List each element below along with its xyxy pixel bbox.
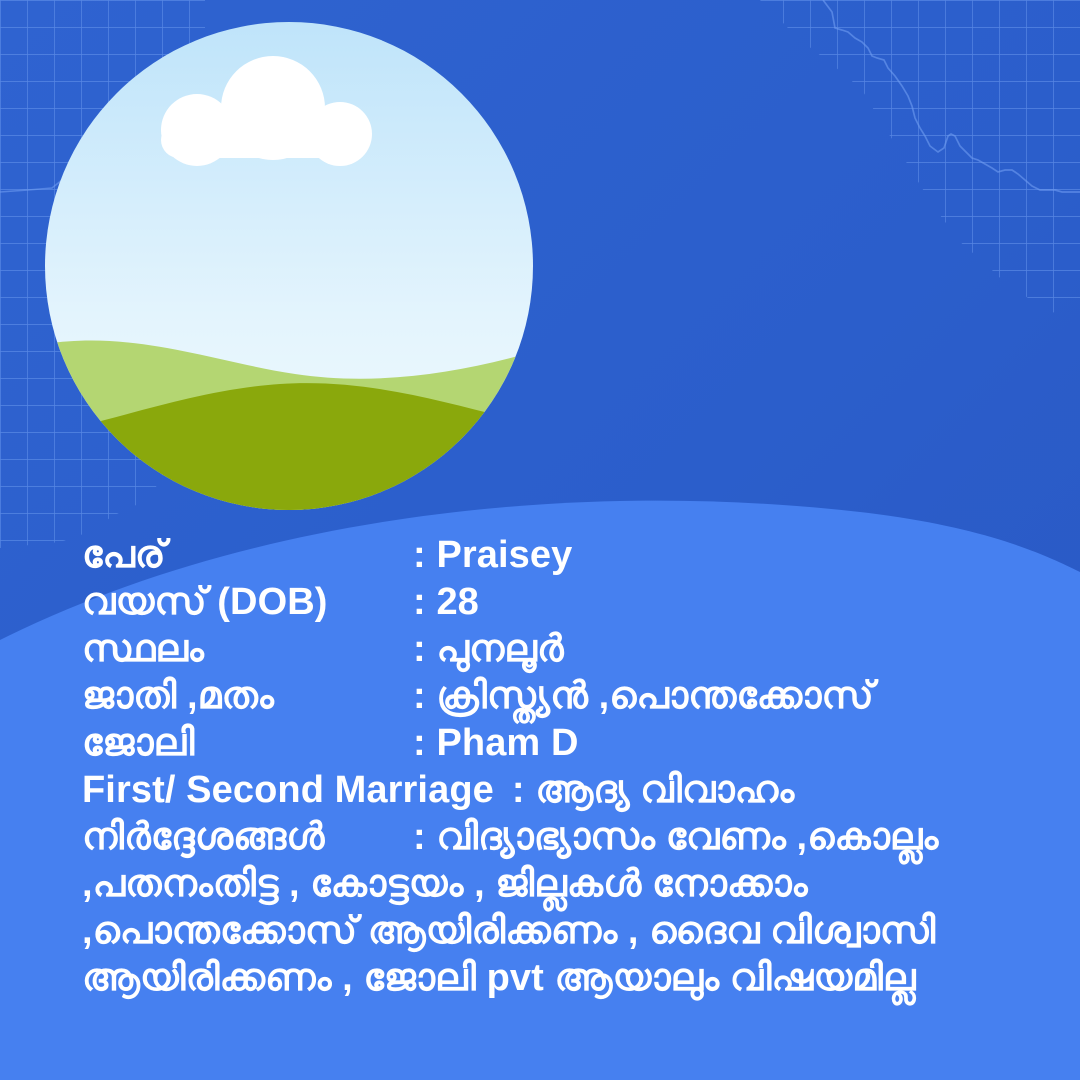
remarks-continuation-line-3: ആയിരിക്കണം , ജോലി pvt ആയാലും വിഷയമില്ല (82, 959, 1062, 997)
value-job: : Pham D (413, 724, 579, 762)
label-place: സ്ഥലം (82, 630, 413, 668)
value-name: : Praisey (413, 536, 572, 574)
detail-row-job: ജോലി : Pham D (82, 724, 1062, 762)
remarks-continuation-line-2: ,പൊന്തക്കോസ് ആയിരിക്കണം , ദൈവ വിശ്വാസി (82, 912, 1062, 950)
profile-details: പേര് : Praisey വയസ് (DOB) : 28 സ്ഥലം : പ… (0, 536, 1080, 1006)
value-marriage: : ആദ്യ വിവാഹം (512, 771, 794, 809)
label-remarks: നിർദ്ദേശങ്ങൾ (82, 818, 413, 856)
value-caste-religion: : ക്രിസ്ത്യൻ ,പൊന്തക്കോസ് (413, 677, 874, 715)
detail-row-name: പേര് : Praisey (82, 536, 1062, 574)
detail-row-remarks: നിർദ്ദേശങ്ങൾ : വിദ്യാഭ്യാസം വേണം ,കൊല്ലം (82, 818, 1062, 856)
value-place: : പുനലൂർ (413, 630, 564, 668)
label-age: വയസ് (DOB) (82, 583, 413, 621)
detail-row-caste-religion: ജാതി ,മതം : ക്രിസ്ത്യൻ ,പൊന്തക്കോസ് (82, 677, 1062, 715)
detail-row-marriage: First/ Second Marriage : ആദ്യ വിവാഹം (82, 771, 1062, 809)
label-name: പേര് (82, 536, 413, 574)
avatar[interactable] (45, 22, 533, 510)
label-caste-religion: ജാതി ,മതം (82, 677, 413, 715)
label-job: ജോലി (82, 724, 413, 762)
detail-row-age: വയസ് (DOB) : 28 (82, 583, 1062, 621)
value-remarks: : വിദ്യാഭ്യാസം വേണം ,കൊല്ലം (413, 818, 938, 856)
value-age: : 28 (413, 583, 479, 621)
detail-row-place: സ്ഥലം : പുനലൂർ (82, 630, 1062, 668)
profile-card: പേര് : Praisey വയസ് (DOB) : 28 സ്ഥലം : പ… (0, 0, 1080, 1080)
remarks-continuation-line-1: ,പതനംതിട്ട , കോട്ടയം , ജില്ലകൾ നോക്കാം (82, 865, 1062, 903)
landscape-photo-placeholder-icon (45, 22, 533, 510)
label-marriage: First/ Second Marriage (82, 771, 494, 809)
